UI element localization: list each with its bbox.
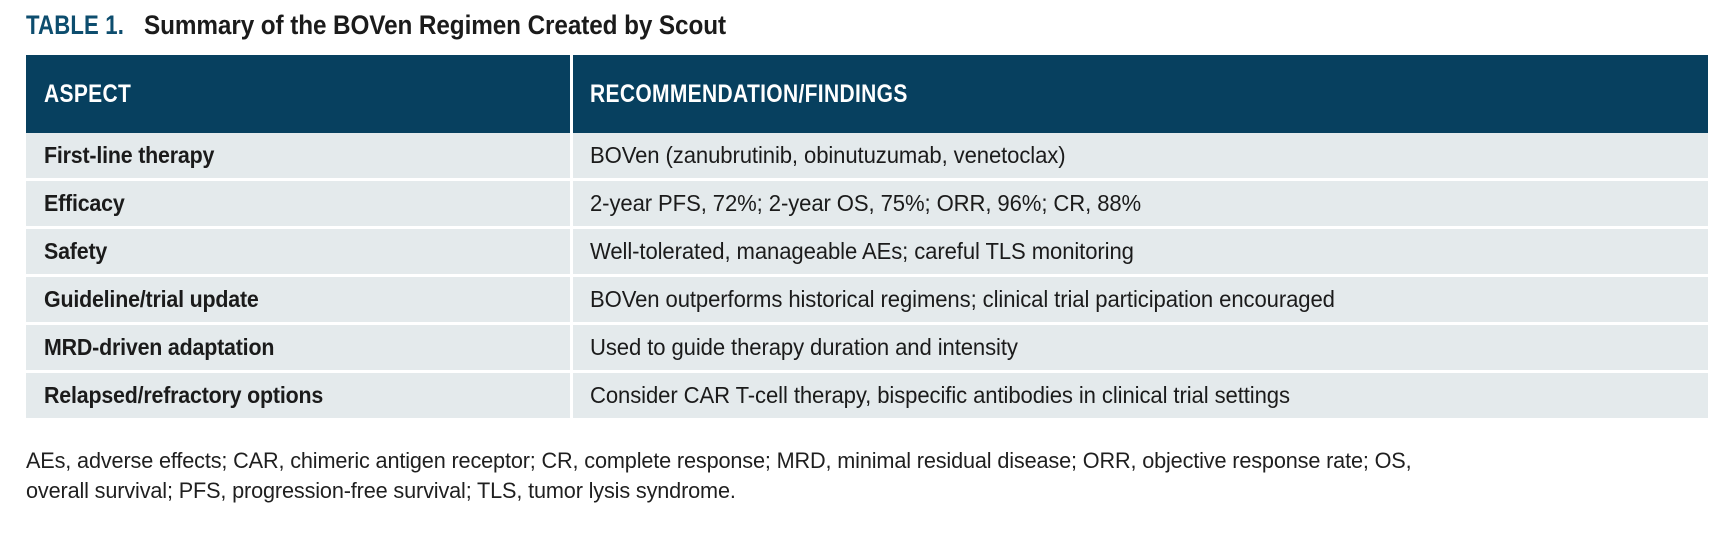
- cell-aspect: Efficacy: [26, 180, 571, 228]
- summary-table: ASPECT RECOMMENDATION/FINDINGS First-lin…: [26, 55, 1708, 418]
- cell-recommendation: Used to guide therapy duration and inten…: [571, 324, 1708, 372]
- table-number-label: TABLE 1.: [26, 8, 124, 42]
- cell-recommendation-label: BOVen outperforms historical regimens; c…: [590, 286, 1335, 313]
- table-row: Efficacy 2-year PFS, 72%; 2-year OS, 75%…: [26, 180, 1708, 228]
- table-row: Safety Well-tolerated, manageable AEs; c…: [26, 228, 1708, 276]
- cell-aspect-label: Efficacy: [44, 190, 125, 217]
- table-row: MRD-driven adaptation Used to guide ther…: [26, 324, 1708, 372]
- cell-recommendation-label: Used to guide therapy duration and inten…: [590, 334, 1018, 361]
- cell-aspect-label: First-line therapy: [44, 142, 214, 169]
- table-title: TABLE 1. Summary of the BOVen Regimen Cr…: [26, 8, 791, 42]
- cell-recommendation: BOVen outperforms historical regimens; c…: [571, 276, 1708, 324]
- footnote-line: overall survival; PFS, progression-free …: [26, 476, 1691, 506]
- column-header-aspect-label: ASPECT: [44, 80, 131, 109]
- table-row: Relapsed/refractory options Consider CAR…: [26, 372, 1708, 419]
- cell-aspect-label: MRD-driven adaptation: [44, 334, 274, 361]
- cell-recommendation: BOVen (zanubrutinib, obinutuzumab, venet…: [571, 133, 1708, 180]
- cell-aspect: First-line therapy: [26, 133, 571, 180]
- cell-recommendation-label: Consider CAR T-cell therapy, bispecific …: [590, 382, 1290, 409]
- column-header-recommendation-label: RECOMMENDATION/FINDINGS: [590, 80, 908, 109]
- table-header-row: ASPECT RECOMMENDATION/FINDINGS: [26, 55, 1708, 133]
- column-header-aspect: ASPECT: [26, 55, 571, 133]
- cell-recommendation: Well-tolerated, manageable AEs; careful …: [571, 228, 1708, 276]
- cell-recommendation-label: BOVen (zanubrutinib, obinutuzumab, venet…: [590, 142, 1066, 169]
- table-caption-label: Summary of the BOVen Regimen Created by …: [144, 8, 726, 42]
- cell-recommendation: 2-year PFS, 72%; 2-year OS, 75%; ORR, 96…: [571, 180, 1708, 228]
- cell-aspect-label: Relapsed/refractory options: [44, 382, 323, 409]
- table-row: Guideline/trial update BOVen outperforms…: [26, 276, 1708, 324]
- table-figure: TABLE 1. Summary of the BOVen Regimen Cr…: [0, 0, 1734, 534]
- cell-recommendation-label: Well-tolerated, manageable AEs; careful …: [590, 238, 1134, 265]
- cell-aspect: Safety: [26, 228, 571, 276]
- cell-aspect-label: Safety: [44, 238, 107, 265]
- table-body: First-line therapy BOVen (zanubrutinib, …: [26, 133, 1708, 418]
- cell-aspect: Guideline/trial update: [26, 276, 571, 324]
- cell-aspect: MRD-driven adaptation: [26, 324, 571, 372]
- column-header-recommendation: RECOMMENDATION/FINDINGS: [571, 55, 1708, 133]
- cell-recommendation: Consider CAR T-cell therapy, bispecific …: [571, 372, 1708, 419]
- table-footnote: AEs, adverse effects; CAR, chimeric anti…: [26, 446, 1716, 506]
- table-row: First-line therapy BOVen (zanubrutinib, …: [26, 133, 1708, 180]
- cell-aspect-label: Guideline/trial update: [44, 286, 259, 313]
- footnote-line: AEs, adverse effects; CAR, chimeric anti…: [26, 446, 1691, 476]
- table-header: ASPECT RECOMMENDATION/FINDINGS: [26, 55, 1708, 133]
- cell-aspect: Relapsed/refractory options: [26, 372, 571, 419]
- cell-recommendation-label: 2-year PFS, 72%; 2-year OS, 75%; ORR, 96…: [590, 190, 1141, 217]
